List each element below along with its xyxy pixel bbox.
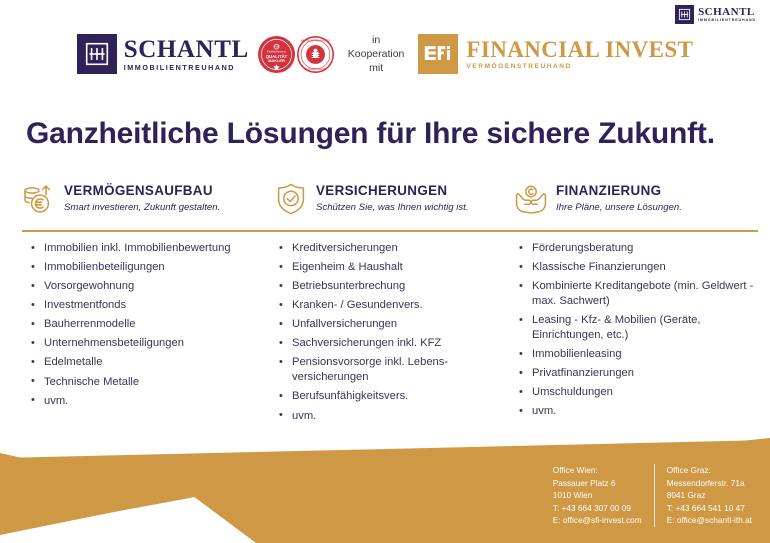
sfi-monogram-icon	[418, 34, 458, 74]
office-phone[interactable]: T: +43 664 541 10 47	[667, 502, 752, 515]
corner-logo-name: SCHANTL	[698, 7, 756, 18]
list-item: Technische Metalle	[30, 375, 274, 390]
list-item: Bauherrenmodelle	[30, 317, 274, 332]
list-item: Leasing - Kfz- & Mobilien (Geräte, Einri…	[518, 313, 762, 343]
svg-text:ALLGEMEIN BEEIDET: ALLGEMEIN BEEIDET	[303, 68, 327, 71]
list-item: Edelmetalle	[30, 355, 274, 370]
coins-euro-growth-icon	[22, 182, 56, 216]
logo-sfi-financial-invest: FINANCIAL INVEST VERMÖGENSTREUHAND	[418, 34, 693, 74]
list-item: uvm.	[30, 394, 274, 409]
list-item: Sachversicherungen inkl. KFZ	[278, 336, 510, 351]
column-title: FINANZIERUNG	[556, 184, 682, 199]
page-title: Ganzheitliche Lösungen für Ihre sichere …	[26, 117, 715, 151]
section-divider	[22, 230, 758, 232]
office-phone[interactable]: T: +43 664 307 00 09	[553, 502, 642, 515]
column-title: VERSICHERUNGEN	[316, 184, 469, 199]
list-item: Kombinierte Kreditangebote (min. Geldwer…	[518, 279, 762, 309]
column-finanzierung: FINANZIERUNG Ihre Pläne, unsere Lösungen…	[514, 181, 758, 223]
slide-root: SCHANTL IMMOBILIENTREUHAND SCHANTL	[0, 0, 770, 543]
svg-text:FMH: FMH	[273, 44, 279, 48]
list-item: Privatfinanzierungen	[518, 366, 762, 381]
list-item: uvm.	[518, 404, 762, 419]
list-item: Immobilienbeteiligungen	[30, 260, 274, 275]
svg-text:IMMOBILIENTREUHÄNDER: IMMOBILIENTREUHÄNDER	[301, 39, 331, 42]
sfi-wordmark: FINANCIAL INVEST	[466, 38, 693, 61]
findmyhome-qualitaet-makler-seal: FMH FindMyHome.at QUALITÄT MAKLER	[258, 36, 295, 73]
svg-text:FindMyHome.at: FindMyHome.at	[267, 49, 286, 53]
office-email[interactable]: E: office@schantl-ith.at	[667, 514, 752, 527]
austria-eagle-seal: IMMOBILIENTREUHÄNDER ALLGEMEIN BEEIDET	[297, 36, 334, 73]
list-item: Kranken- / Gesundenvers.	[278, 298, 510, 313]
cooperation-line-1: in	[348, 33, 405, 47]
list-item: Immobilien inkl. Immobilienbewertung	[30, 241, 274, 256]
service-columns-header: VERMÖGENSAUFBAU Smart investieren, Zukun…	[22, 181, 758, 223]
office-label: Office Graz:	[667, 464, 752, 477]
corner-logo-schantl: SCHANTL IMMOBILIENTREUHAND	[675, 5, 756, 24]
list-versicherungen: KreditversicherungenEigenheim & Haushalt…	[278, 241, 510, 428]
office-city: 8041 Graz	[667, 489, 752, 502]
cooperation-line-3: mit	[348, 61, 405, 75]
list-item: Betriebsunterbrechung	[278, 279, 510, 294]
column-vermoegensaufbau: VERMÖGENSAUFBAU Smart investieren, Zukun…	[22, 181, 274, 223]
cooperation-label: in Kooperation mit	[348, 33, 405, 76]
column-versicherungen: VERSICHERUNGEN Schützen Sie, was Ihnen w…	[274, 181, 514, 223]
cooperation-line-2: Kooperation	[348, 47, 405, 61]
list-vermoegensaufbau: Immobilien inkl. ImmobilienbewertungImmo…	[30, 241, 274, 413]
list-item: Umschuldungen	[518, 385, 762, 400]
office-city: 1010 Wien	[553, 489, 642, 502]
list-item: Investmentfonds	[30, 298, 274, 313]
schantl-subtitle: IMMOBILIENTREUHAND	[124, 64, 249, 71]
shield-check-icon	[274, 182, 308, 216]
schantl-wordmark: SCHANTL	[124, 37, 249, 62]
svg-text:MAKLER: MAKLER	[268, 58, 285, 63]
list-item: Vorsorgewohnung	[30, 279, 274, 294]
hands-holding-coin-icon	[514, 182, 548, 216]
column-subtitle: Smart investieren, Zukunft gestalten.	[64, 202, 220, 214]
partner-logo-row: SCHANTL IMMOBILIENTREUHAND FMH FindMyHom…	[0, 33, 770, 76]
office-wien: Office Wien: Passauer Platz 6 1010 Wien …	[553, 464, 655, 527]
list-item: Förderungsberatung	[518, 241, 762, 256]
ith-monogram-icon	[77, 34, 117, 74]
column-title: VERMÖGENSAUFBAU	[64, 184, 220, 199]
column-subtitle: Schützen Sie, was Ihnen wichtig ist.	[316, 202, 469, 214]
certification-seals: FMH FindMyHome.at QUALITÄT MAKLER IMMOBI…	[258, 36, 334, 73]
ith-monogram-icon	[675, 5, 694, 24]
column-subtitle: Ihre Pläne, unsere Lösungen.	[556, 202, 682, 214]
corner-logo-subtitle: IMMOBILIENTREUHAND	[698, 19, 756, 23]
list-item: uvm.	[278, 409, 510, 424]
office-email[interactable]: E: office@sfi-invest.com	[553, 514, 642, 527]
list-item: Klassische Finanzierungen	[518, 260, 762, 275]
list-item: Unfallversicherungen	[278, 317, 510, 332]
office-street: Passauer Platz 6	[553, 477, 642, 490]
list-item: Unternehmensbeteiligungen	[30, 336, 274, 351]
office-street: Messendorferstr. 71a	[667, 477, 752, 490]
office-contact-block: Office Wien: Passauer Platz 6 1010 Wien …	[553, 464, 752, 527]
list-item: Kreditversicherungen	[278, 241, 510, 256]
list-item: Berufsunfähigkeitsvers.	[278, 389, 510, 404]
logo-schantl-immobilientreuhand: SCHANTL IMMOBILIENTREUHAND	[77, 34, 249, 74]
list-item: Eigenheim & Haushalt	[278, 260, 510, 275]
list-item: Immobilienleasing	[518, 347, 762, 362]
sfi-subtitle: VERMÖGENSTREUHAND	[466, 64, 693, 71]
list-item: Pensionsvorsorge inkl. Lebens-versicheru…	[278, 355, 510, 385]
office-label: Office Wien:	[553, 464, 642, 477]
office-graz: Office Graz: Messendorferstr. 71a 8041 G…	[655, 464, 752, 527]
list-finanzierung: FörderungsberatungKlassische Finanzierun…	[518, 241, 762, 423]
